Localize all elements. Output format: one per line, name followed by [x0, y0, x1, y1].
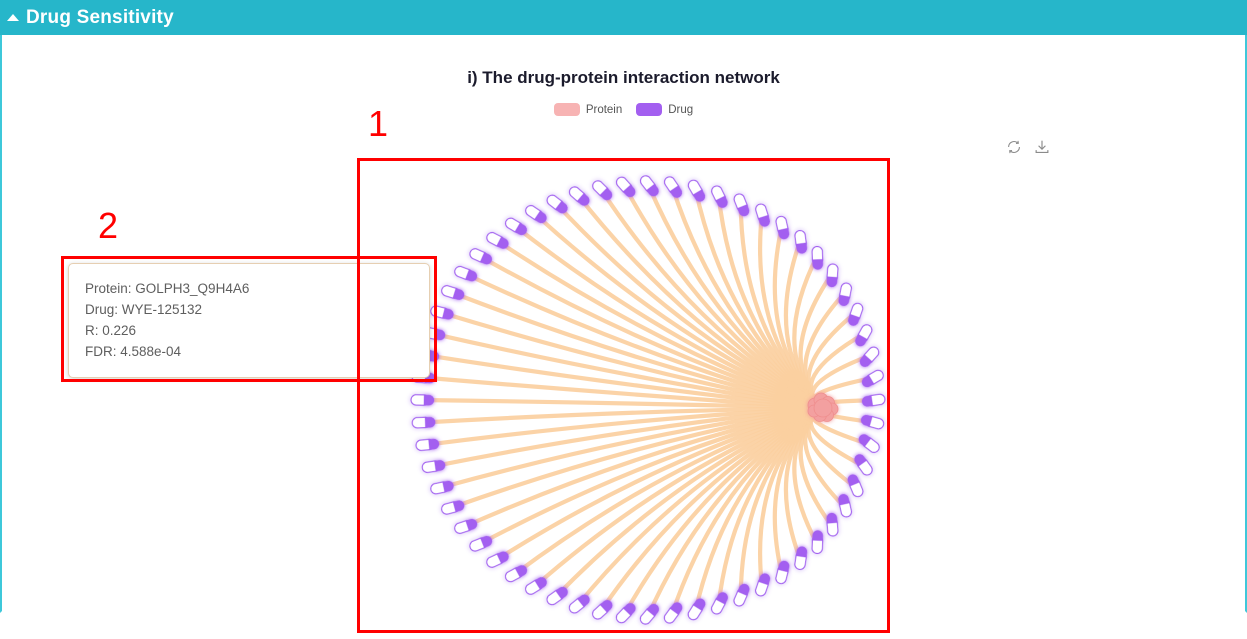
- drug-node[interactable]: [754, 572, 771, 597]
- drug-node[interactable]: [638, 602, 661, 626]
- drug-node[interactable]: [662, 175, 684, 200]
- drug-node[interactable]: [614, 601, 638, 625]
- tooltip-fdr: FDR: 4.588e-04: [85, 341, 413, 362]
- protein-node-lobe: [814, 399, 832, 417]
- legend-item-drug[interactable]: Drug: [636, 103, 693, 116]
- chart-toolbar: [1005, 138, 1051, 156]
- page-title: Drug Sensitivity: [26, 0, 174, 35]
- drug-node[interactable]: [412, 417, 436, 428]
- drug-node[interactable]: [860, 368, 885, 389]
- drug-node[interactable]: [860, 414, 885, 430]
- legend-label-drug: Drug: [668, 104, 693, 116]
- drug-node[interactable]: [416, 438, 440, 450]
- collapse-toggle-button[interactable]: [0, 0, 26, 35]
- drug-node[interactable]: [591, 179, 615, 203]
- drug-node[interactable]: [754, 203, 771, 228]
- drug-node[interactable]: [453, 265, 478, 283]
- drug-node[interactable]: [504, 563, 529, 583]
- legend-item-protein[interactable]: Protein: [554, 103, 622, 116]
- drug-node[interactable]: [440, 499, 465, 515]
- drug-node-capsule-half: [861, 395, 873, 407]
- drug-node-capsule-half: [826, 512, 837, 523]
- drug-node-capsule-half: [812, 259, 823, 270]
- triangle-up-icon: [7, 14, 19, 21]
- panel-header: Drug Sensitivity: [0, 0, 1247, 35]
- tooltip-r: R: 0.226: [85, 320, 413, 341]
- drug-node[interactable]: [812, 246, 823, 270]
- graph-tooltip: Protein: GOLPH3_Q9H4A6 Drug: WYE-125132 …: [68, 263, 430, 378]
- drug-node[interactable]: [411, 395, 434, 406]
- drug-node[interactable]: [614, 175, 637, 199]
- legend-label-protein: Protein: [586, 104, 622, 116]
- drug-node[interactable]: [847, 302, 864, 327]
- chart-title: i) The drug-protein interaction network: [0, 68, 1247, 88]
- edge-layer: [420, 184, 876, 616]
- drug-node[interactable]: [826, 512, 838, 536]
- drug-node-capsule-half: [428, 438, 439, 449]
- network-graph[interactable]: [357, 158, 890, 633]
- drug-node[interactable]: [430, 305, 455, 321]
- drug-node[interactable]: [468, 534, 493, 552]
- drug-node[interactable]: [686, 597, 707, 622]
- drug-node[interactable]: [846, 473, 865, 498]
- drug-node[interactable]: [638, 174, 660, 199]
- chart-legend: Protein Drug: [0, 103, 1247, 116]
- drug-node[interactable]: [662, 600, 684, 625]
- drug-node[interactable]: [590, 598, 614, 621]
- drug-node-capsule-half: [434, 459, 446, 471]
- drug-node[interactable]: [440, 284, 465, 301]
- drug-node-capsule-half: [424, 395, 435, 406]
- download-icon[interactable]: [1033, 138, 1051, 156]
- drug-node[interactable]: [775, 560, 791, 585]
- restore-icon[interactable]: [1005, 138, 1023, 156]
- drug-node[interactable]: [710, 184, 730, 209]
- drug-node[interactable]: [838, 282, 853, 307]
- drug-node[interactable]: [732, 582, 751, 607]
- legend-swatch-protein: [554, 103, 580, 116]
- drug-node[interactable]: [852, 452, 874, 477]
- drug-sensitivity-panel: Drug Sensitivity i) The drug-protein int…: [0, 0, 1247, 639]
- drug-node-capsule-half: [434, 329, 446, 341]
- drug-node-capsule-half: [838, 295, 850, 307]
- drug-node[interactable]: [775, 215, 790, 240]
- drug-node-capsule-half: [826, 276, 837, 287]
- drug-node[interactable]: [453, 518, 478, 535]
- drug-node[interactable]: [837, 493, 852, 518]
- tooltip-protein: Protein: GOLPH3_Q9H4A6: [85, 278, 413, 299]
- drug-node[interactable]: [485, 231, 510, 251]
- drug-node[interactable]: [853, 323, 873, 348]
- drug-node[interactable]: [812, 530, 823, 554]
- drug-node-capsule-half: [812, 530, 823, 541]
- drug-node-capsule-half: [425, 417, 436, 428]
- tooltip-drug: Drug: WYE-125132: [85, 299, 413, 320]
- drug-node-capsule-half: [442, 480, 454, 492]
- drug-node[interactable]: [710, 590, 730, 615]
- drug-node[interactable]: [485, 550, 510, 569]
- drug-node[interactable]: [468, 247, 493, 266]
- drug-node[interactable]: [686, 178, 707, 203]
- drug-node[interactable]: [733, 192, 751, 217]
- drug-node[interactable]: [861, 394, 885, 408]
- drug-node[interactable]: [826, 264, 838, 288]
- drug-node[interactable]: [430, 480, 455, 495]
- drug-node[interactable]: [422, 459, 446, 473]
- legend-swatch-drug: [636, 103, 662, 116]
